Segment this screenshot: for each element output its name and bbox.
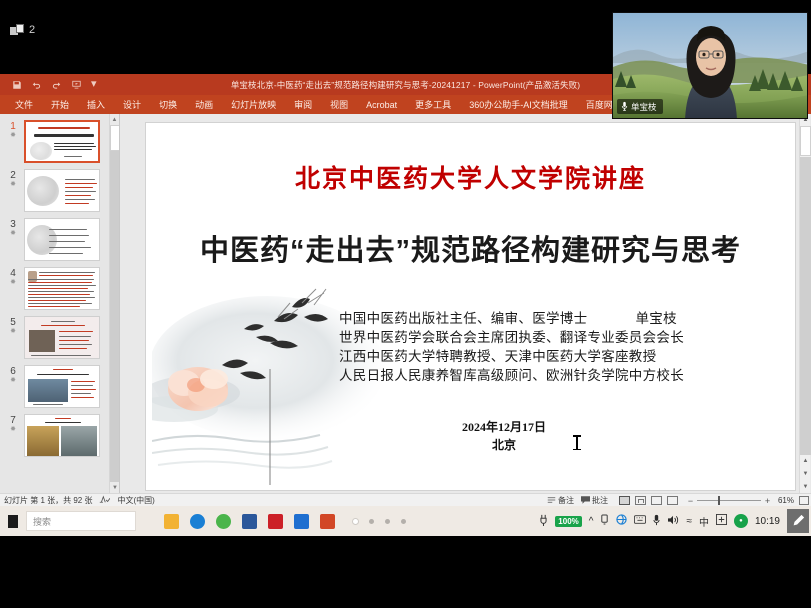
comments-label: 批注 [592,495,608,506]
thumbnail-meta: 7 ✸ [2,414,24,434]
thumbnail-preview[interactable] [24,218,100,261]
zoom-out-button[interactable]: − [687,496,694,506]
thumbnail-meta: 5 ✸ [2,316,24,336]
volume-icon[interactable] [667,515,679,528]
scroll-down-icon[interactable]: ▼ [800,481,811,493]
slideshow-view-button[interactable] [667,496,678,505]
slide-thumbnail-6[interactable]: 6 ✸ [0,363,119,412]
tab-acrobat[interactable]: Acrobat [357,98,406,112]
animation-star-icon: ✸ [2,328,24,336]
share-indicator: 2 [10,24,35,36]
tab-review[interactable]: 审阅 [285,96,321,113]
thumbnail-preview[interactable] [24,120,100,163]
slide-number: 1 [2,121,24,132]
task-dot[interactable] [385,519,390,524]
ime-language-icon[interactable]: 中 [699,514,709,529]
slide-credits-block[interactable]: 中国中医药出版社主任、编审、医学博士 单宝枝 世界中医药学会联合会主席团执委、翻… [339,309,769,385]
redo-icon[interactable] [51,80,62,90]
slide-number: 5 [2,317,24,328]
previous-slide-icon[interactable]: ▲ [800,455,811,467]
show-hidden-icons-icon[interactable]: ^ [589,516,594,527]
tab-insert[interactable]: 插入 [78,96,114,113]
slide-number: 2 [2,170,24,181]
start-button[interactable] [0,506,26,536]
tab-transitions[interactable]: 切换 [150,96,186,113]
presenter-video-tile[interactable]: 单宝枝 [612,12,808,119]
thumbnail-meta: 1 ✸ [2,120,24,140]
text-cursor [576,436,578,449]
tab-more-tools[interactable]: 更多工具 [406,96,460,113]
comments-button[interactable]: 批注 [581,495,608,506]
undo-icon[interactable] [31,80,42,90]
tab-animations[interactable]: 动画 [186,96,222,113]
credit-line-4: 人民日报人民康养智库高级顾问、欧洲针灸学院中方校长 [339,366,769,385]
network-icon[interactable] [616,514,627,528]
task-dot[interactable] [353,519,358,524]
normal-view-button[interactable] [619,496,630,505]
tab-view[interactable]: 视图 [321,96,357,113]
windows-taskbar: 搜索 100% ^ [0,506,811,536]
taskbar-app-icons [164,514,335,529]
credit-line-3: 江西中医药大学特聘教授、天津中医药大学客座教授 [339,347,769,366]
animation-star-icon: ✸ [2,426,24,434]
window-share-icon [10,24,24,36]
slide-scroll-track[interactable] [800,157,811,455]
start-slideshow-icon[interactable] [71,80,82,90]
usb-icon[interactable] [600,514,609,528]
microphone-tray-icon[interactable] [653,514,660,529]
taskbar-search-box[interactable]: 搜索 [26,511,136,531]
edge-legacy-icon[interactable] [216,514,231,529]
animation-star-icon: ✸ [2,279,24,287]
scroll-down-icon[interactable]: ▼ [110,482,120,493]
editor-body: 1 ✸ 2 ✸ [0,114,811,493]
thumbnail-meta: 3 ✸ [2,218,24,238]
reading-view-button[interactable] [651,496,662,505]
save-icon[interactable] [12,80,22,90]
language-label[interactable]: 中文(中国) [117,495,154,506]
comment-icon [581,496,590,506]
slide-main-title[interactable]: 中医药“走出去”规范路径构建研究与思考 [146,227,795,269]
meeting-app-icon[interactable] [294,514,309,529]
thumbnail-preview[interactable] [24,169,100,212]
zoom-in-button[interactable]: + [764,496,771,506]
slide-number: 3 [2,219,24,230]
status-left: 幻灯片 第 1 张，共 92 张 中文(中国) [0,495,155,506]
thumbnail-meta: 2 ✸ [2,169,24,189]
animation-star-icon: ✸ [2,377,24,385]
scroll-up-icon[interactable]: ▲ [110,114,119,125]
slide-location: 北京 [339,436,669,454]
keyboard-icon[interactable] [634,515,646,527]
slide-thumbnail-2[interactable]: 2 ✸ [0,167,119,216]
thumbnail-preview[interactable] [24,414,100,457]
ime-settings-icon[interactable] [716,514,727,528]
tab-home[interactable]: 开始 [42,96,78,113]
charging-icon[interactable] [539,514,548,529]
slide-scrollbar[interactable]: ▲ ▲ ▼ ▼ [799,114,810,493]
thumbnail-scrollbar[interactable]: ▲ ▼ [109,114,119,493]
slide-editor-stage: 北京中医药大学人文学院讲座 中医药“走出去”规范路径构建研究与思考 中国中医药出… [120,114,811,493]
zoom-slider-thumb[interactable] [718,496,720,505]
credit-text: 中国中医药出版社主任、编审、医学博士 [339,311,587,326]
task-dot[interactable] [401,519,406,524]
battery-indicator[interactable]: 100% [555,516,581,527]
slide-thumbnail-7[interactable]: 7 ✸ [0,412,119,461]
animation-star-icon: ✸ [2,181,24,189]
file-explorer-icon[interactable] [164,514,179,529]
taskbar-window-dots [353,519,406,524]
slide-position-label: 幻灯片 第 1 张，共 92 张 [4,495,92,506]
customize-qat-icon[interactable]: ▾ [91,79,97,90]
credit-line-2: 世界中医药学会联合会主席团执委、翻译专业委员会会长 [339,328,769,347]
tab-360-assistant[interactable]: 360办公助手-AI文档批理 [460,96,577,113]
notes-icon [547,496,556,506]
pen-tool-icon[interactable] [787,509,809,533]
quick-access-toolbar: ▾ [0,79,97,90]
screen-share-viewer: 2 ▾ 单宝枝北京-中医药“走出去”规范路径构建研究与思考-20241 [0,0,811,608]
start-icon [8,515,18,528]
animation-star-icon: ✸ [2,230,24,238]
thumbnail-preview[interactable] [24,316,100,359]
thumbnail-preview[interactable] [24,365,100,408]
credit-line-1: 中国中医药出版社主任、编审、医学博士 单宝枝 [339,309,769,328]
browser-icon[interactable] [190,514,205,529]
zoom-slider-track[interactable] [697,500,761,501]
powerpoint-window: ▾ 单宝枝北京-中医药“走出去”规范路径构建研究与思考-20241217 - P… [0,74,811,506]
view-buttons [619,496,678,505]
cloud-sync-icon[interactable]: ≈ [686,516,692,527]
notes-label: 备注 [558,495,574,506]
slide-thumbnail-4[interactable]: 4 ✸ [0,265,119,314]
slide-thumbnail-1[interactable]: 1 ✸ [0,118,119,167]
search-input[interactable]: 搜索 [33,515,51,528]
slide-thumbnail-5[interactable]: 5 ✸ [0,314,119,363]
thumbnail-meta: 6 ✸ [2,365,24,385]
thumbnail-scroll-thumb[interactable] [110,125,120,151]
microphone-icon [621,101,628,113]
slide-number: 7 [2,415,24,426]
task-dot[interactable] [369,519,374,524]
thumbnail-preview[interactable] [24,267,100,310]
spell-check-icon[interactable] [99,495,110,506]
system-tray: 100% ^ ≈ 中 ● 10:19 [539,506,811,536]
thumbnail-scroll-track[interactable] [110,151,120,482]
fit-slide-to-window-icon[interactable] [799,496,809,505]
slide-number: 4 [2,268,24,279]
clock[interactable]: 10:19 [755,516,780,527]
slide-sorter-view-button[interactable] [635,496,646,505]
word-icon[interactable] [242,514,257,529]
participant-name-chip: 单宝枝 [617,99,663,114]
slide-date-block[interactable]: 2024年12月17日 北京 [339,418,669,454]
zoom-percent-label[interactable]: 61% [774,496,794,505]
zoom-control[interactable]: − + 61% [687,496,809,506]
slide-thumbnail-3[interactable]: 3 ✸ [0,216,119,265]
slide-date: 2024年12月17日 [339,418,669,436]
slide-thumbnail-pane[interactable]: 1 ✸ 2 ✸ [0,114,120,493]
participant-name: 单宝枝 [631,101,657,113]
slide-scroll-thumb[interactable] [800,126,811,156]
tab-slideshow[interactable]: 幻灯片放映 [222,96,285,113]
acrobat-icon[interactable] [268,514,283,529]
green-round-icon[interactable]: ● [734,514,748,528]
slide-number: 6 [2,366,24,377]
thumbnail-meta: 4 ✸ [2,267,24,287]
status-bar: 幻灯片 第 1 张，共 92 张 中文(中国) 备注 批注 [0,493,811,506]
tab-file[interactable]: 文件 [6,96,42,113]
presenter-name: 单宝枝 [591,311,676,326]
tab-design[interactable]: 设计 [114,96,150,113]
slide-red-title[interactable]: 北京中医药大学人文学院讲座 [146,159,795,195]
animation-star-icon: ✸ [2,132,24,140]
current-slide[interactable]: 北京中医药大学人文学院讲座 中医药“走出去”规范路径构建研究与思考 中国中医药出… [146,123,795,490]
next-slide-icon[interactable]: ▼ [800,468,811,480]
share-count-label: 2 [29,24,35,36]
powerpoint-icon[interactable] [320,514,335,529]
notes-button[interactable]: 备注 [547,495,574,506]
